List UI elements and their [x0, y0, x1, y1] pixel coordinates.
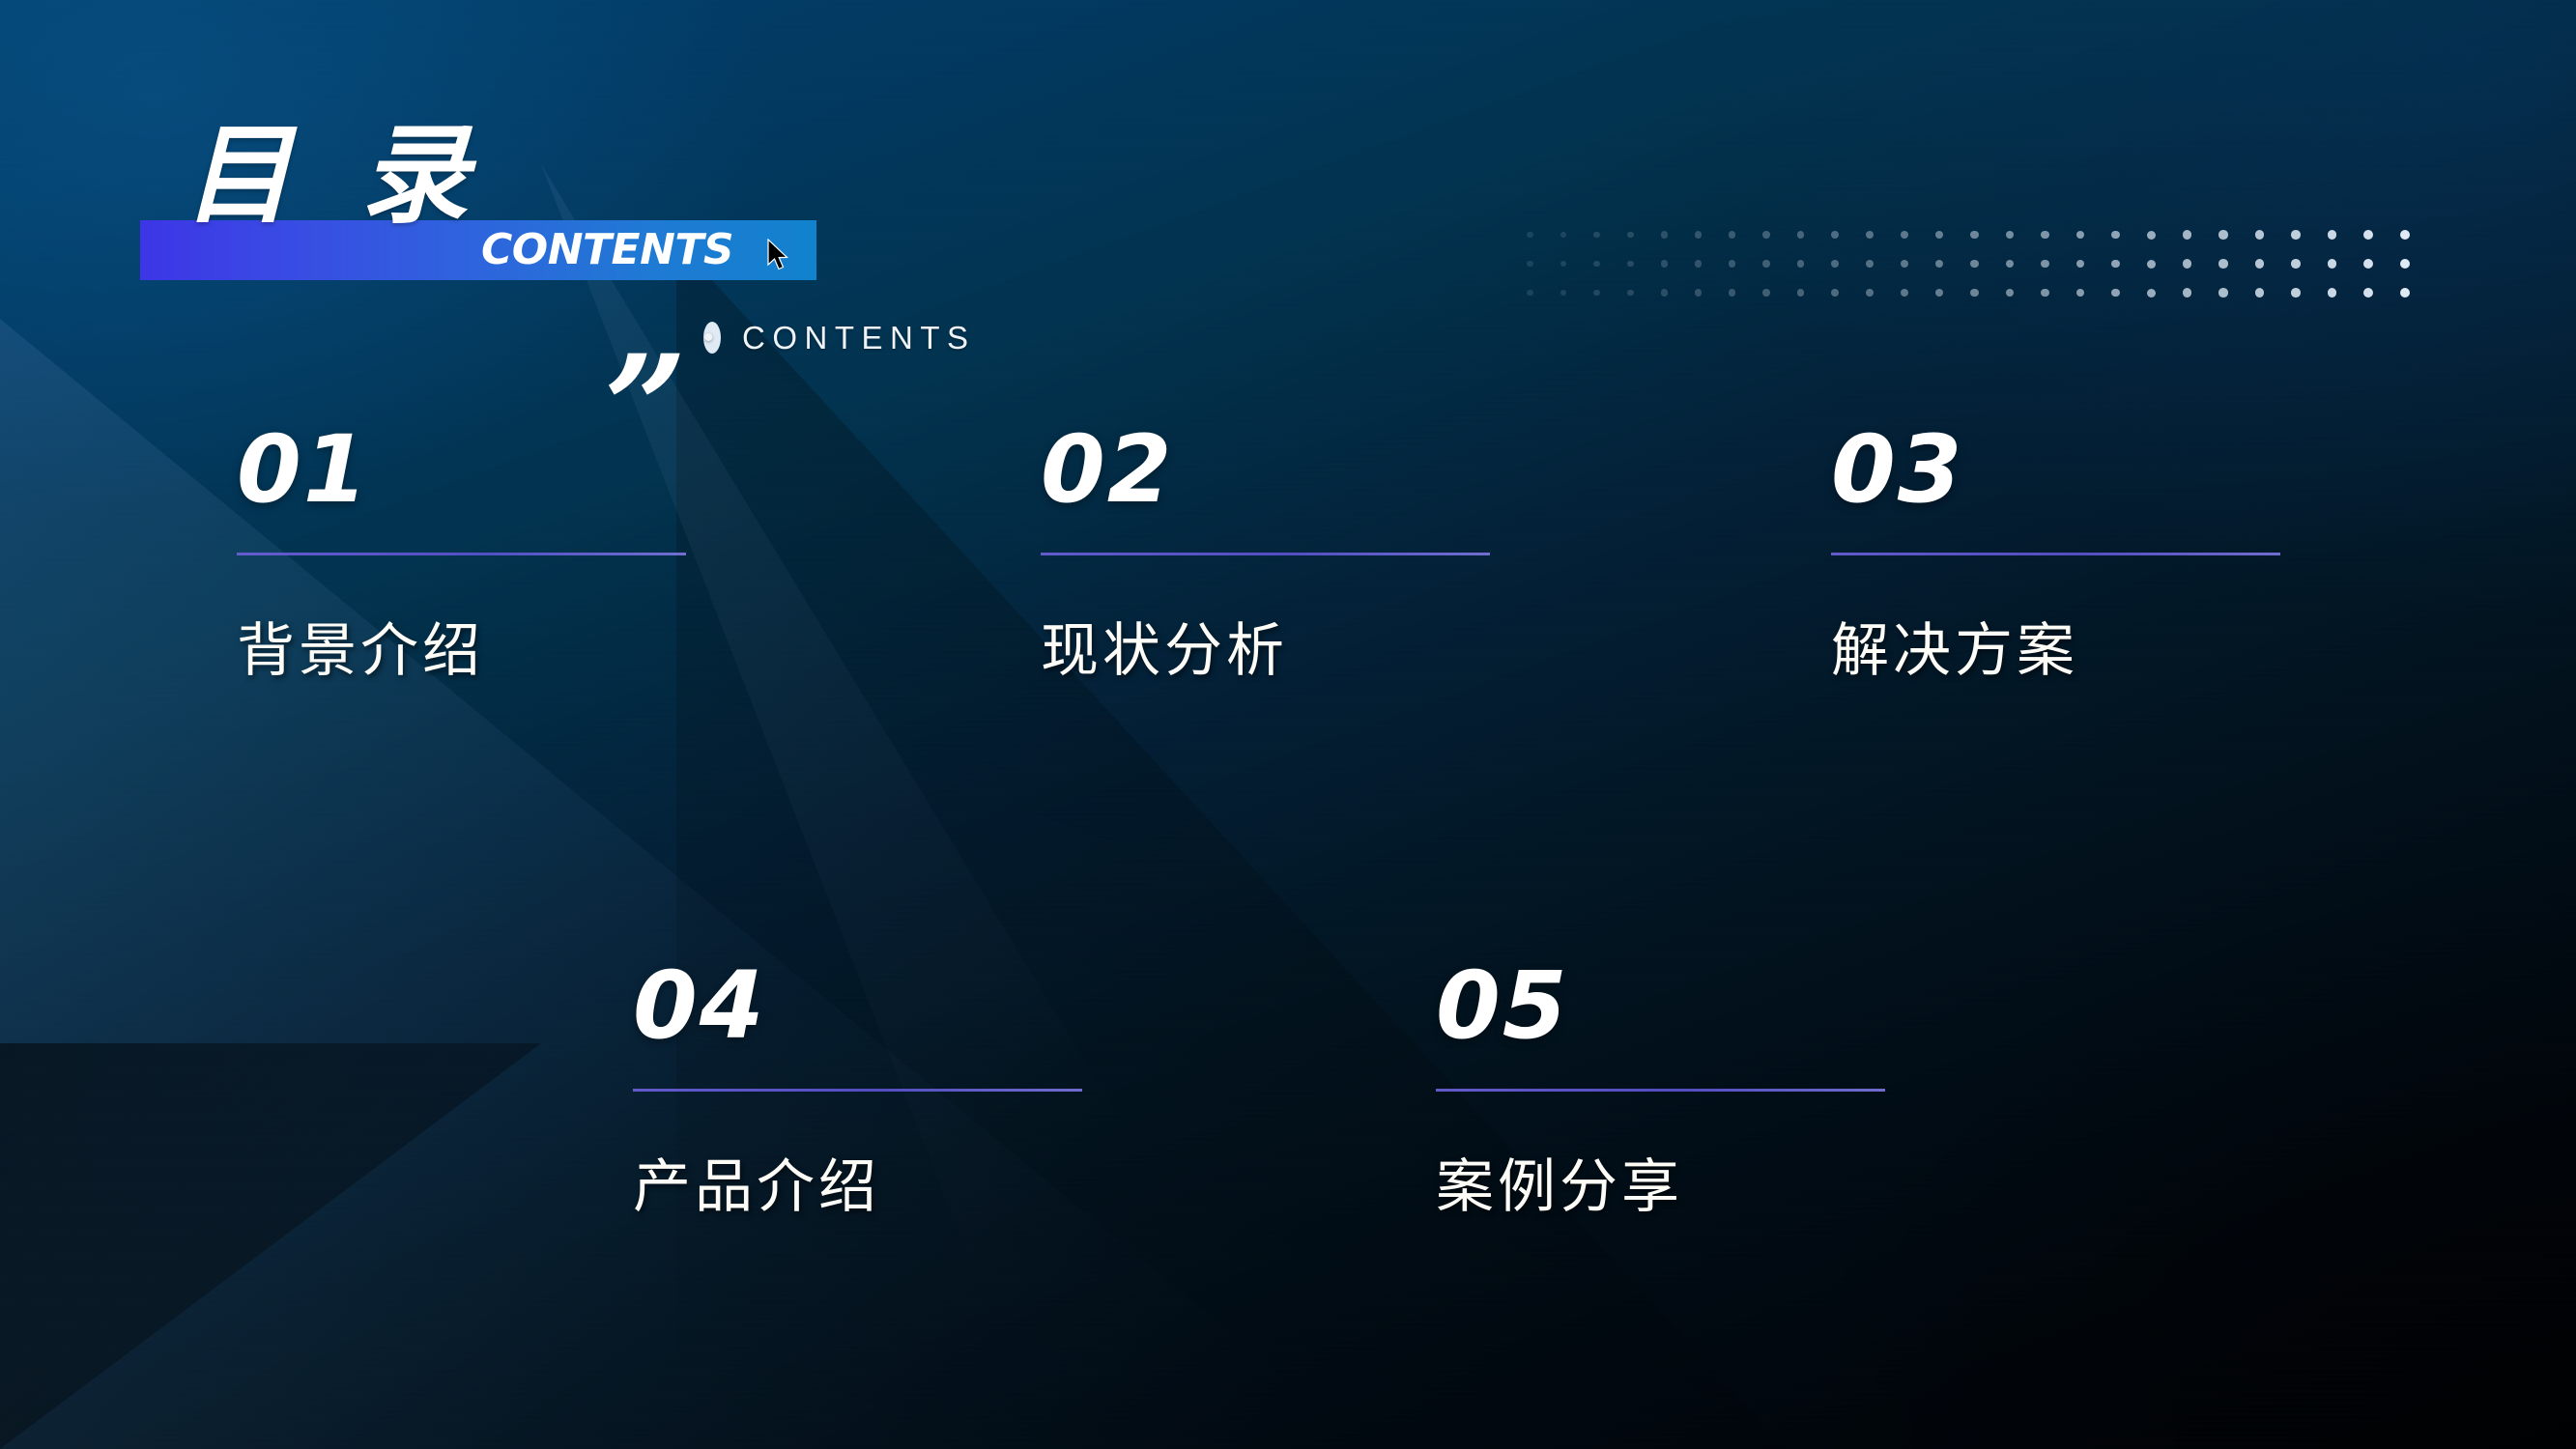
- grid-dot: [2363, 230, 2373, 240]
- grid-dot: [2006, 289, 2015, 298]
- grid-dot: [2147, 289, 2156, 298]
- page-title-chinese: 目 录: [184, 122, 484, 230]
- grid-dot: [1901, 289, 1908, 297]
- item-number: 04: [633, 959, 1082, 1052]
- grid-dot: [1661, 231, 1668, 238]
- grid-dot: [2363, 288, 2373, 298]
- grid-dot: [1762, 260, 1770, 268]
- grid-dot: [1695, 289, 1702, 296]
- grid-dot: [2147, 231, 2156, 240]
- dot-grid-row: [1527, 249, 2437, 278]
- item-number: 01: [237, 423, 686, 516]
- grid-dot: [2400, 230, 2410, 240]
- grid-dot: [1970, 231, 1978, 239]
- grid-dot: [2291, 288, 2301, 298]
- dot-grid-row: [1527, 220, 2437, 249]
- grid-dot: [2147, 260, 2156, 269]
- item-divider: [1436, 1089, 1885, 1092]
- contents-item-05[interactable]: 05 案例分享: [1436, 959, 1885, 1218]
- grid-dot: [2400, 259, 2410, 269]
- grid-dot: [2076, 260, 2085, 269]
- item-divider: [633, 1089, 1082, 1092]
- grid-dot: [1831, 260, 1839, 268]
- grid-dot: [1527, 261, 1533, 268]
- subtitle-text: CONTENTS: [742, 320, 976, 355]
- grid-dot: [1729, 289, 1735, 296]
- grid-dot: [1797, 289, 1805, 297]
- grid-dot: [1527, 290, 1533, 297]
- item-divider: [1041, 553, 1490, 555]
- item-label: 解决方案: [1831, 621, 2280, 682]
- grid-dot: [1831, 289, 1839, 297]
- item-label: 背景介绍: [237, 621, 686, 682]
- grid-dot: [2006, 260, 2015, 269]
- presentation-slide: 目 录 CONTENTS •CONTENTS ” 01 背景介绍 02 现状分析…: [0, 0, 2576, 1449]
- grid-dot: [1695, 231, 1702, 238]
- subtitle-line: •CONTENTS: [703, 320, 976, 356]
- grid-dot: [1729, 231, 1735, 238]
- grid-dot: [1560, 232, 1567, 239]
- grid-dot: [1627, 290, 1634, 297]
- grid-dot: [2111, 289, 2120, 298]
- grid-dot: [2111, 231, 2120, 240]
- grid-dot: [1560, 290, 1567, 297]
- grid-dot: [2111, 260, 2120, 269]
- grid-dot: [2291, 230, 2301, 240]
- grid-dot: [2183, 230, 2191, 239]
- item-number: 02: [1041, 423, 1490, 516]
- grid-dot: [1901, 231, 1908, 239]
- grid-dot: [2328, 288, 2337, 298]
- background-facet-corner: [0, 1043, 541, 1449]
- grid-dot: [2183, 288, 2191, 297]
- grid-dot: [2218, 230, 2227, 239]
- decorative-dot-grid: [1527, 220, 2437, 307]
- grid-dot: [1527, 232, 1533, 239]
- grid-dot: [1695, 260, 1702, 267]
- grid-dot: [2041, 231, 2049, 240]
- grid-dot: [1901, 260, 1908, 268]
- grid-dot: [1593, 290, 1600, 297]
- grid-dot: [2255, 230, 2264, 239]
- grid-dot: [2328, 230, 2337, 240]
- grid-dot: [1661, 289, 1668, 296]
- grid-dot: [1866, 231, 1874, 239]
- grid-dot: [1866, 260, 1874, 268]
- grid-dot: [1797, 260, 1805, 268]
- grid-dot: [1729, 260, 1735, 267]
- grid-dot: [1935, 289, 1943, 297]
- grid-dot: [1627, 261, 1634, 268]
- grid-dot: [2006, 231, 2015, 240]
- grid-dot: [2041, 260, 2049, 269]
- grid-dot: [2291, 259, 2301, 269]
- mouse-cursor-icon: [766, 239, 791, 271]
- grid-dot: [2041, 289, 2049, 298]
- grid-dot: [2218, 288, 2227, 297]
- grid-dot: [1560, 261, 1567, 268]
- contents-item-03[interactable]: 03 解决方案: [1831, 423, 2280, 682]
- item-divider: [237, 553, 686, 555]
- grid-dot: [1935, 231, 1943, 239]
- grid-dot: [2183, 259, 2191, 268]
- grid-dot: [2255, 259, 2264, 268]
- dot-grid-row: [1527, 278, 2437, 307]
- page-title-english: CONTENTS: [481, 224, 733, 276]
- item-label: 现状分析: [1041, 621, 1490, 682]
- grid-dot: [2076, 289, 2085, 298]
- grid-dot: [1797, 231, 1805, 239]
- bullet-icon: •: [703, 322, 721, 354]
- item-divider: [1831, 553, 2280, 555]
- grid-dot: [1593, 232, 1600, 239]
- grid-dot: [1831, 231, 1839, 239]
- grid-dot: [2363, 259, 2373, 269]
- item-label: 案例分享: [1436, 1157, 1885, 1218]
- grid-dot: [2076, 231, 2085, 240]
- grid-dot: [2255, 288, 2264, 297]
- grid-dot: [1970, 260, 1978, 268]
- grid-dot: [2400, 288, 2410, 298]
- grid-dot: [1762, 231, 1770, 239]
- contents-item-01[interactable]: 01 背景介绍: [237, 423, 686, 682]
- grid-dot: [1593, 261, 1600, 268]
- grid-dot: [1762, 289, 1770, 297]
- item-number: 05: [1436, 959, 1885, 1052]
- background-facet-highlight: [541, 164, 1797, 1449]
- grid-dot: [1935, 260, 1943, 268]
- contents-item-04[interactable]: 04 产品介绍: [633, 959, 1082, 1218]
- item-label: 产品介绍: [633, 1157, 1082, 1218]
- grid-dot: [1970, 289, 1978, 297]
- grid-dot: [1627, 232, 1634, 239]
- grid-dot: [2218, 259, 2227, 268]
- grid-dot: [1866, 289, 1874, 297]
- contents-item-02[interactable]: 02 现状分析: [1041, 423, 1490, 682]
- grid-dot: [2328, 259, 2337, 269]
- grid-dot: [1661, 260, 1668, 267]
- item-number: 03: [1831, 423, 2280, 516]
